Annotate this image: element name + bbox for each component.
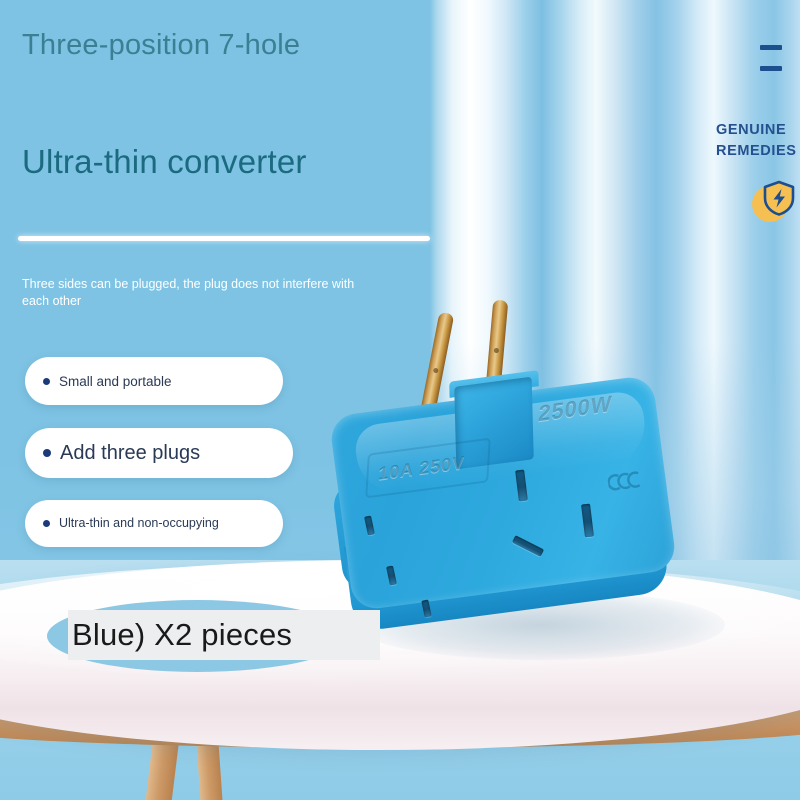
headline-main: Ultra-thin converter xyxy=(22,142,462,182)
product-ad-canvas: Three-position 7-hole Ultra-thin convert… xyxy=(0,0,800,800)
bullet-dot-icon xyxy=(43,449,51,457)
watermark-dash-icon xyxy=(760,66,782,71)
headline-kicker: Three-position 7-hole xyxy=(22,28,412,63)
feature-pill-label: Add three plugs xyxy=(60,442,200,465)
bullet-dot-icon xyxy=(43,378,50,385)
watermark-dash-icon xyxy=(760,45,782,50)
ccc-certification-icon xyxy=(607,468,644,494)
headline-divider xyxy=(18,236,430,241)
bullet-dot-icon xyxy=(43,520,50,527)
feature-pill-ultra-thin: Ultra-thin and non-occupying xyxy=(25,500,283,547)
prong-dimple xyxy=(433,368,439,374)
prong-dimple xyxy=(494,348,499,353)
watermark-brand: GENUINE REMEDIES xyxy=(716,120,800,161)
feature-pill-label: Small and portable xyxy=(59,374,172,389)
product-image: 10A 250V 2500W xyxy=(330,290,750,710)
banner-text: Blue) X2 pieces xyxy=(72,612,382,658)
subtitle-text: Three sides can be plugged, the plug doe… xyxy=(22,276,367,310)
feature-pill-small-and-portable: Small and portable xyxy=(25,357,283,405)
watermark-badge xyxy=(752,180,796,224)
watermark-brand-line-2: REMEDIES xyxy=(716,141,800,162)
watermark-brand-line-1: GENUINE xyxy=(716,120,800,141)
feature-pill-add-three-plugs: Add three plugs xyxy=(25,428,293,478)
shield-bolt-icon xyxy=(762,180,796,216)
feature-pill-label: Ultra-thin and non-occupying xyxy=(59,516,219,532)
